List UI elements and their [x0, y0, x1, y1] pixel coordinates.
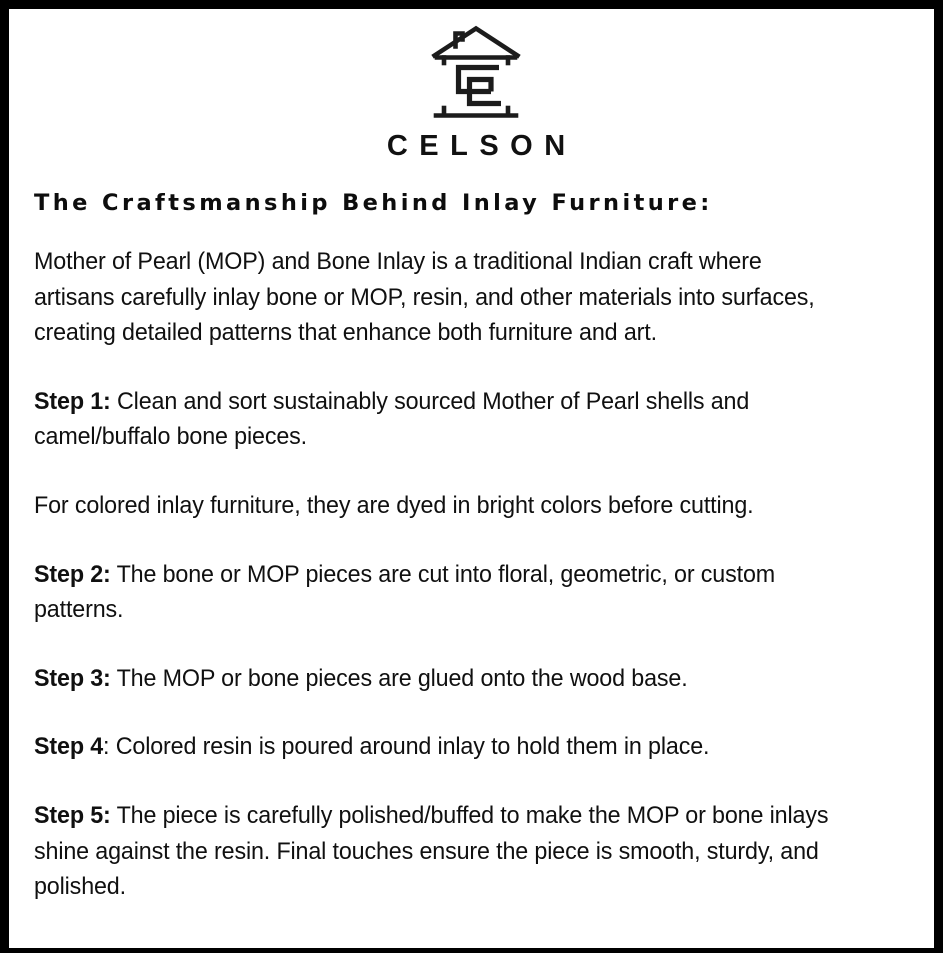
step-text: The bone or MOP pieces are cut into flor…: [34, 561, 775, 624]
page-title: The Craftsmanship Behind Inlay Furniture…: [27, 190, 925, 217]
paragraph-step-4: Step 4: Colored resin is poured around i…: [34, 729, 843, 765]
step-label: Step 1:: [34, 388, 111, 415]
step-label: Step 2:: [34, 561, 111, 588]
brand-block: CELSON: [27, 18, 925, 161]
paragraph-dye-note: For colored inlay furniture, they are dy…: [34, 488, 843, 524]
step-text: : Colored resin is poured around inlay t…: [103, 733, 709, 760]
step-text: The piece is carefully polished/buffed t…: [34, 802, 828, 900]
steps-body: Mother of Pearl (MOP) and Bone Inlay is …: [27, 244, 925, 905]
card-content: CELSON The Craftsmanship Behind Inlay Fu…: [18, 18, 925, 943]
paragraph-text: For colored inlay furniture, they are dy…: [34, 492, 753, 519]
inlay-furniture-infographic-card: CELSON The Craftsmanship Behind Inlay Fu…: [0, 0, 943, 953]
step-label: Step 3:: [34, 665, 111, 692]
paragraph-step-2: Step 2: The bone or MOP pieces are cut i…: [34, 557, 843, 628]
house-with-stylized-c-monogram-icon: [428, 25, 524, 121]
paragraph-text: Mother of Pearl (MOP) and Bone Inlay is …: [34, 248, 815, 346]
paragraph-step-1: Step 1: Clean and sort sustainably sourc…: [34, 384, 843, 455]
step-label: Step 4: [34, 733, 103, 760]
step-label: Step 5:: [34, 802, 111, 829]
step-text: Clean and sort sustainably sourced Mothe…: [34, 388, 749, 451]
step-text: The MOP or bone pieces are glued onto th…: [111, 665, 688, 692]
paragraph-step-5: Step 5: The piece is carefully polished/…: [34, 798, 843, 905]
paragraph-intro: Mother of Pearl (MOP) and Bone Inlay is …: [34, 244, 843, 351]
brand-wordmark: CELSON: [375, 132, 576, 161]
paragraph-step-3: Step 3: The MOP or bone pieces are glued…: [34, 661, 843, 697]
